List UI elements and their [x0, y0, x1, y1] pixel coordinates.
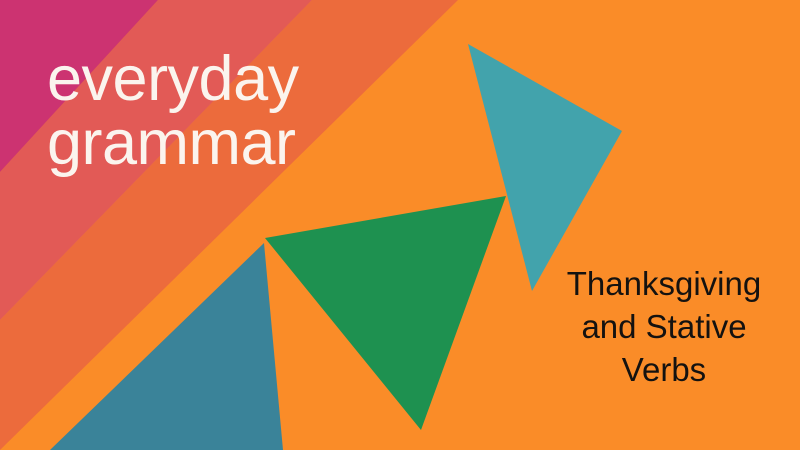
thumbnail-canvas: everyday grammar Thanksgiving and Stativ… — [0, 0, 800, 450]
background-artwork — [0, 0, 800, 450]
